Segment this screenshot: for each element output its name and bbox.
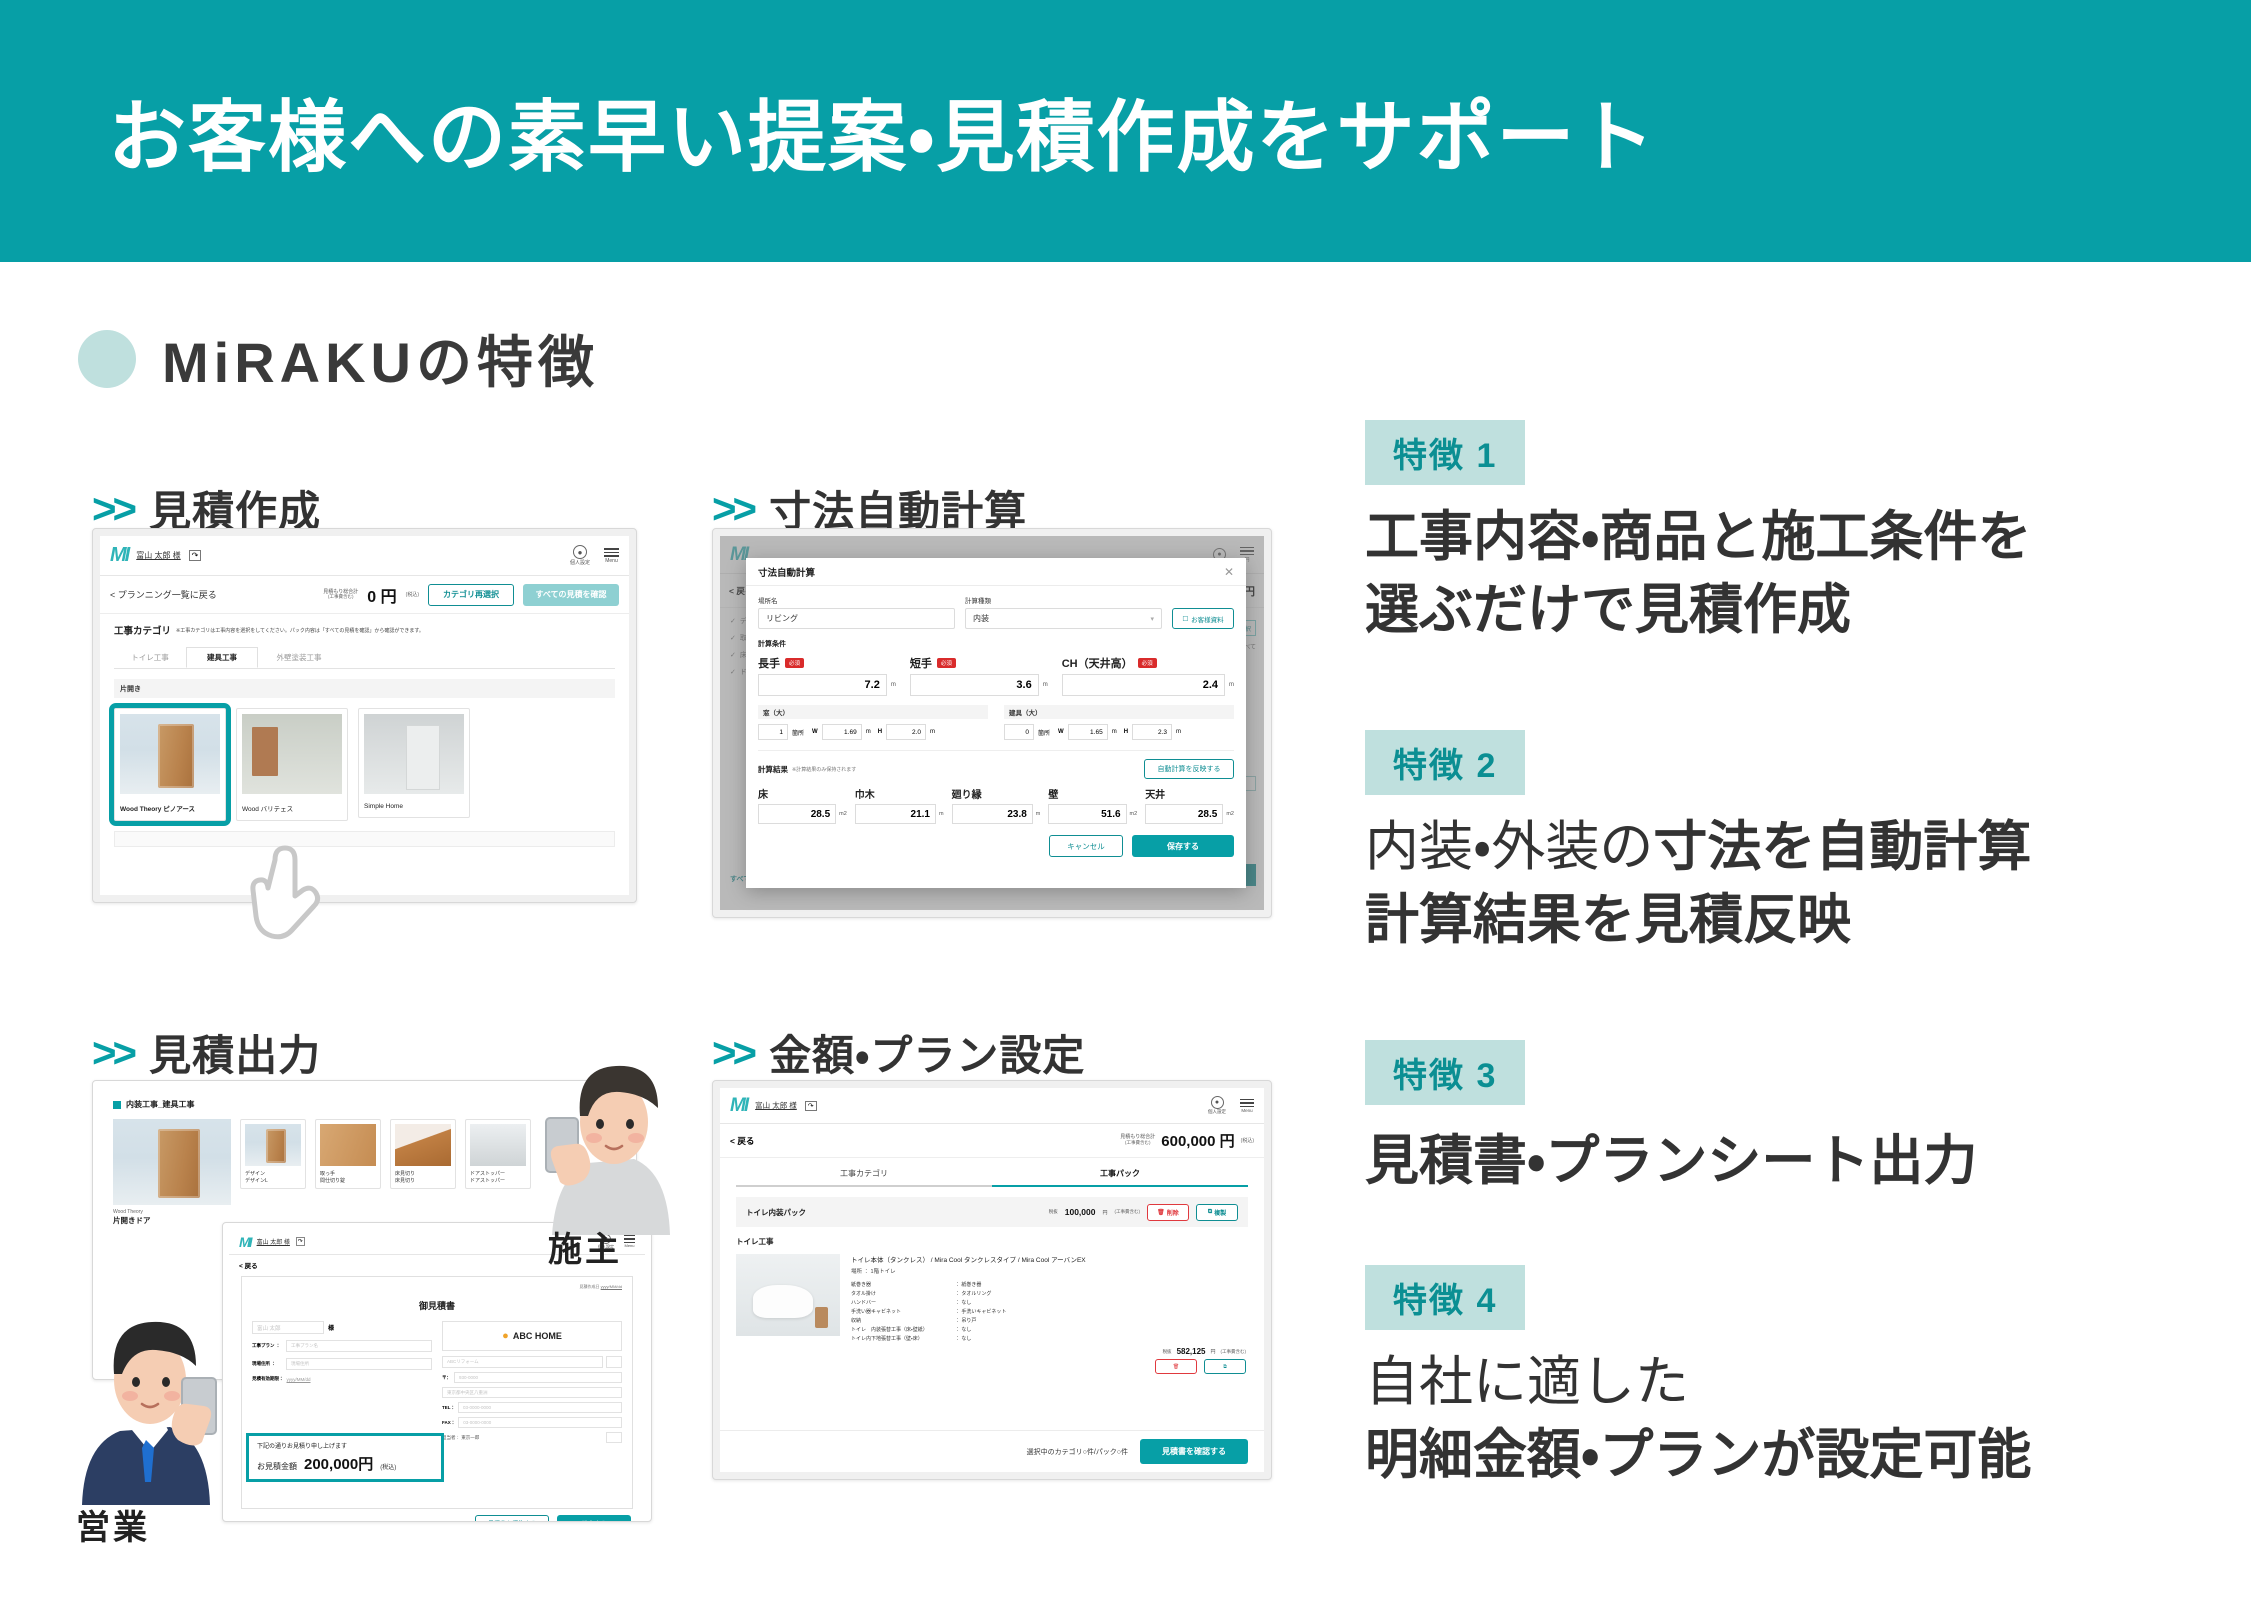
client-avatar: [540, 1040, 690, 1235]
place-label: 場所名: [758, 595, 955, 605]
save-button[interactable]: 保存する: [1132, 835, 1234, 857]
zip-label: 〒：: [442, 1375, 451, 1381]
app-header: MI 富山 太郎 様 ↷ ● 個人設定 Menu: [100, 536, 629, 576]
quote-document: 見積作成日 yyyy/MM/dd 御見積書 富山 太郎 様 工事プラン ： 工事…: [241, 1276, 633, 1509]
item-specs: 紙巻き器： 紙巻き器 タオル掛け： タオルリング ハンドバー： なし 手洗い器キ…: [851, 1281, 1248, 1342]
amount-label: お見積金額: [257, 1461, 297, 1472]
dim-input[interactable]: 7.2: [758, 674, 887, 696]
required-badge: 必須: [937, 658, 956, 668]
trash-icon: 🗑: [1157, 1209, 1165, 1216]
plan-input[interactable]: 工事プラン名: [286, 1340, 432, 1352]
option-thumbnail: [470, 1124, 526, 1166]
item-detail: トイレ本体（タンクレス） / Mira Cool タンクレスタイプ / Mira…: [720, 1247, 1264, 1342]
zip-input[interactable]: 930-0000: [454, 1372, 622, 1383]
result-name: 廻り縁: [952, 786, 1041, 801]
opening-height[interactable]: 2.0: [886, 724, 926, 740]
required-badge: 必須: [1138, 658, 1157, 668]
apply-auto-calc-button[interactable]: 自動計算を反映する: [1144, 759, 1234, 779]
results-section: 計算結果 ※計算結果のみ保持されます 自動計算を反映する 床 28.5 m2: [758, 750, 1234, 857]
quote-form-actions: 見積書を編集する 確定する: [229, 1515, 645, 1522]
copy-icon: ⧉: [1208, 1209, 1212, 1216]
total-sublabel: (工事費含む): [1120, 1141, 1155, 1146]
tab-toilet[interactable]: トイレ工事: [114, 647, 186, 668]
price-plan-screen: MI 富山 太郎 様 ↷ ● 個人設定 Menu < 戻る: [720, 1088, 1264, 1472]
dimension-inputs: 長手 必須 7.2 m 短手 必須: [758, 655, 1234, 696]
document-title: 御見積書: [252, 1299, 622, 1312]
company-name-input[interactable]: ABCリフォーム: [442, 1356, 603, 1368]
feature-1: 特徴 1 工事内容・商品と施工条件を 選ぶだけで見積作成: [1365, 420, 2031, 645]
calc-type-label: 計算種類: [965, 595, 1162, 605]
option-card: ドアストッパー ドアストッパー: [465, 1119, 531, 1189]
tel-input[interactable]: 03-0000-0000: [458, 1402, 622, 1413]
page-title: お客様への素早い提案・見積作成をサポート: [108, 75, 1657, 187]
miraku-logo-icon: MI: [730, 1095, 747, 1117]
feature-badge: 特徴 2: [1365, 730, 1525, 795]
total-tax-note: (税込): [1241, 1137, 1254, 1144]
product-thumbnail: [364, 714, 464, 794]
feature-badge: 特徴 3: [1365, 1040, 1525, 1105]
feature-text-line-2: 計算結果を見積反映: [1365, 886, 2031, 955]
modal-title: 寸法自動計算: [758, 565, 815, 579]
feature-text-line-1: 見積書・プランシート出力: [1365, 1127, 1977, 1196]
person-icon: ●: [573, 545, 587, 559]
amount-value: 200,000円: [304, 1453, 373, 1474]
person-icon: ●: [1211, 1096, 1224, 1109]
back-to-list-link[interactable]: < プランニング一覧に戻る: [110, 588, 217, 601]
quote-form-screen: MI 富山 太郎 様 ↷ ● 個人設定 Menu < 戻る: [229, 1229, 645, 1515]
conditions-label: 計算条件: [758, 639, 1234, 649]
feature-badge: 特徴 4: [1365, 1265, 1525, 1330]
label-salesperson: 営業: [76, 1500, 150, 1549]
result-name: 天井: [1145, 786, 1234, 801]
account-settings-button[interactable]: ● 個人設定: [1208, 1096, 1226, 1115]
copy-pack-button[interactable]: ⧉複製: [1196, 1204, 1238, 1221]
panel-quote-create: MI 富山 太郎 様 ↷ ● 個人設定 Menu < プラン: [92, 528, 637, 903]
fix-quote-button[interactable]: 確定する: [557, 1515, 631, 1522]
flame-icon: ●: [502, 1330, 509, 1342]
required-badge: 必須: [785, 658, 804, 668]
user-name: 富山 太郎 様: [755, 1100, 797, 1111]
product-thumbnail: [242, 714, 342, 794]
total-sublabel: (工事費含む): [323, 595, 358, 600]
caption-price-plan: >> 金額・プラン設定: [712, 1022, 1085, 1083]
opening-width[interactable]: 1.65: [1068, 724, 1108, 740]
recategory-button[interactable]: カテゴリ再選択: [428, 584, 514, 606]
option-thumbnail: [395, 1124, 451, 1166]
miraku-logo-icon: MI: [239, 1234, 251, 1250]
item-title: トイレ本体（タンクレス） / Mira Cool タンクレスタイプ / Mira…: [851, 1254, 1248, 1264]
price-plan-footer: 選択中のカテゴリ○件/パック○件 見積書を確認する: [720, 1430, 1264, 1472]
feature-text-line-1: 工事内容・商品と施工条件を: [1365, 503, 2031, 572]
product-name: Wood バリテェス: [237, 799, 347, 820]
customer-doc-button[interactable]: ☐ お客様資料: [1172, 608, 1234, 629]
feature-badge: 特徴 1: [1365, 420, 1525, 485]
copy-item-button[interactable]: ⧉: [1204, 1359, 1246, 1374]
opening-count[interactable]: 1: [758, 724, 788, 740]
amount-tax: (税込): [380, 1462, 396, 1471]
main-product-image: [113, 1119, 231, 1205]
modal-actions: キャンセル 保存する: [758, 835, 1234, 857]
logout-icon[interactable]: ↷: [296, 1237, 305, 1246]
result-value: 23.8: [952, 804, 1033, 824]
item-subtotal: 税抜 582,125 円 (工事費含む): [720, 1342, 1264, 1356]
category-title: 工事カテゴリ: [114, 623, 171, 637]
dim-unit: m: [891, 682, 896, 688]
toilet-product-image: [736, 1254, 840, 1336]
address-input[interactable]: 現場住所: [286, 1358, 432, 1370]
label-client: 施主: [548, 1222, 622, 1271]
account-settings-button[interactable]: ● 個人設定: [570, 545, 590, 566]
auto-dimension-screen: MI ● 円 < 戻る 円 ✓デ ✓取 ✓床: [720, 536, 1264, 910]
result-label: 計算結果: [758, 764, 788, 775]
user-name: 富山 太郎 様: [257, 1237, 290, 1246]
dim-label: 長手: [758, 655, 780, 671]
hamburger-icon: [1240, 1098, 1254, 1108]
user-name: 富山 太郎 様: [136, 550, 180, 561]
miraku-logo-icon: MI: [110, 544, 128, 567]
product-name: 片開きドア: [113, 1215, 231, 1226]
person-seal-box[interactable]: [606, 1432, 622, 1443]
sheet-title: 内装工事_建具工事: [126, 1099, 194, 1110]
back-link[interactable]: < 戻る: [730, 1135, 754, 1147]
check-quote-button[interactable]: 見積書を確認する: [1140, 1439, 1248, 1464]
tab-category[interactable]: 工事カテゴリ: [736, 1168, 992, 1187]
feature-text-line-1: 内装・外装の寸法を自動計算: [1365, 813, 2031, 882]
chevron-down-icon: ▾: [1150, 615, 1154, 623]
feature-2: 特徴 2 内装・外装の寸法を自動計算 計算結果を見積反映: [1365, 730, 2031, 955]
option-thumbnail: [320, 1124, 376, 1166]
hamburger-icon: [624, 1235, 635, 1243]
name-suffix: 様: [328, 1323, 334, 1332]
feature-text-line-2: 選ぶだけで見積作成: [1365, 576, 2031, 645]
product-thumbnail: [120, 714, 220, 794]
fax-input[interactable]: 03-0000-0000: [458, 1417, 622, 1428]
chevron-right-icon: >>: [92, 488, 133, 530]
valid-label: 見積有効期限：: [252, 1376, 284, 1382]
group-label: 片開き: [114, 679, 615, 698]
opening-count[interactable]: 0: [1004, 724, 1034, 740]
cancel-button[interactable]: キャンセル: [1049, 835, 1123, 857]
chevron-right-icon: >>: [712, 488, 753, 530]
calc-type-select[interactable]: 内装 ▾: [965, 608, 1162, 629]
company-seal-box[interactable]: [606, 1356, 622, 1368]
menu-button[interactable]: Menu: [624, 1235, 635, 1248]
result-note: ※計算結果のみ保持されます: [792, 766, 856, 773]
price-plan-subheader: < 戻る 見積もり総合計 (工事費含む) 600,000 円 (税込): [720, 1124, 1264, 1158]
total-amount: 0 円: [367, 583, 396, 607]
product-card[interactable]: Wood バリテェス: [236, 708, 348, 821]
product-name: Simple Home: [359, 799, 469, 817]
company-logo: ● ABC HOME: [442, 1321, 622, 1351]
plan-tabs: 工事カテゴリ 工事パック: [720, 1158, 1264, 1187]
quote-amount-box: 下記の通りお見積り申し上げます お見積金額 200,000円 (税込): [246, 1433, 444, 1482]
quote-create-screen: MI 富山 太郎 様 ↷ ● 個人設定 Menu < プラン: [100, 536, 629, 895]
auto-dimension-modal: 寸法自動計算 ✕ 場所名 リビング 計算種類 内装: [746, 558, 1246, 888]
option-card: 取っ手 間仕切り錠: [315, 1119, 381, 1189]
pack-header: トイレ内装パック 税抜 100,000 円 (工事費含む) 🗑削除 ⧉複製: [736, 1197, 1248, 1227]
quote-subheader: < プランニング一覧に戻る 見積もり総合計 (工事費含む) 0 円 (税込) カ…: [100, 576, 629, 614]
tab-exterior[interactable]: 外壁塗装工事: [258, 647, 340, 668]
app-header: MI 富山 太郎 様 ↷ ● 個人設定 Menu: [720, 1088, 1264, 1124]
chevron-right-icon: >>: [92, 1032, 133, 1074]
result-values: 床 28.5 m2 巾木 21.1 m: [758, 786, 1234, 824]
dim-input[interactable]: 3.6: [910, 674, 1039, 696]
feature-text-line-2: 明細金額・プランが設定可能: [1365, 1421, 2031, 1490]
pack-name: トイレ内装パック: [746, 1207, 806, 1218]
modal-body: 場所名 リビング 計算種類 内装 ▾ ☐ お客様資料: [746, 586, 1246, 857]
salesperson-avatar: [62, 1290, 237, 1505]
slide-root: お客様への素早い提案・見積作成をサポート MiRAKUの特徴 >> 見積作成 M…: [0, 0, 2251, 1605]
dim-input[interactable]: 2.4: [1062, 674, 1225, 696]
menu-button[interactable]: Menu: [604, 547, 619, 564]
logout-icon[interactable]: ↷: [189, 550, 202, 561]
tab-pack[interactable]: 工事パック: [992, 1168, 1248, 1187]
bullet-square-icon: [113, 1101, 121, 1109]
valid-value: yyyy/MM/dd: [287, 1377, 311, 1382]
place-input[interactable]: リビング: [758, 608, 955, 629]
opening-title: 窓（大）: [758, 705, 988, 719]
result-value: 21.1: [855, 804, 936, 824]
opening-inputs: 窓（大） 1 箇所 W 1.69 m H 2.0 m: [758, 705, 1234, 740]
category-tabs: トイレ工事 建具工事 外壁塗装工事: [114, 647, 615, 669]
dim-label: CH（天井高）: [1062, 655, 1133, 671]
result-name: 巾木: [855, 786, 944, 801]
dim-unit: m: [1043, 682, 1048, 688]
section-title: MiRAKUの特徴: [162, 318, 599, 399]
caption-quote-output: >> 見積出力: [92, 1022, 321, 1083]
result-name: 壁: [1048, 786, 1137, 801]
edit-quote-button[interactable]: 見積書を編集する: [475, 1515, 549, 1522]
confirm-all-quotes-button[interactable]: すべての見積を確認: [523, 584, 619, 606]
opening-height[interactable]: 2.3: [1132, 724, 1172, 740]
logout-icon[interactable]: ↷: [805, 1101, 817, 1111]
feature-3: 特徴 3 見積書・プランシート出力: [1365, 1040, 1977, 1196]
result-value: 51.6: [1048, 804, 1126, 824]
opening-title: 建具（大）: [1004, 705, 1234, 719]
person-in-charge: 担当者： 東京一郎: [442, 1435, 479, 1441]
created-date: 見積作成日 yyyy/MM/dd: [580, 1284, 622, 1290]
delete-item-button[interactable]: 🗑: [1155, 1359, 1197, 1374]
total-tax-note: (税込): [406, 591, 419, 598]
result-value: 28.5: [1145, 804, 1223, 824]
plan-label: 工事プラン ：: [252, 1343, 282, 1349]
item-actions: 🗑 ⧉: [720, 1356, 1264, 1374]
customer-name-input[interactable]: 富山 太郎: [252, 1321, 324, 1334]
address2-input[interactable]: 東京都中央区八重洲: [442, 1387, 622, 1398]
tab-joinery[interactable]: 建具工事: [186, 647, 258, 668]
dim-label: 短手: [910, 655, 932, 671]
result-value: 28.5: [758, 804, 836, 824]
menu-button[interactable]: Menu: [1240, 1098, 1254, 1113]
delete-pack-button[interactable]: 🗑削除: [1147, 1204, 1189, 1221]
amount-note: 下記の通りお見積り申し上げます: [257, 1441, 433, 1450]
panel-auto-dimension: MI ● 円 < 戻る 円 ✓デ ✓取 ✓床: [712, 528, 1272, 918]
fax-label: FAX：: [442, 1420, 455, 1426]
external-link-icon: ☐: [1182, 615, 1188, 623]
hand-pointer-icon: [245, 838, 335, 958]
address-label: 現場住所 ：: [252, 1361, 282, 1367]
bullet-dot-icon: [78, 330, 136, 388]
feature-text-line-1: 自社に適した: [1365, 1348, 2031, 1417]
product-name: Wood Theory ピノアース: [115, 799, 225, 820]
category-note: ※工事カテゴリは工事内容を選択をしてください。パック内容は「すべての見積を確認」…: [176, 627, 424, 634]
option-card: 床見切り 床見切り: [390, 1119, 456, 1189]
hero-banner: お客様への素早い提案・見積作成をサポート: [0, 0, 2251, 262]
quote-create-body: 工事カテゴリ ※工事カテゴリは工事内容を選択をしてください。パック内容は「すべて…: [100, 614, 629, 856]
feature-4: 特徴 4 自社に適した 明細金額・プランが設定可能: [1365, 1265, 2031, 1490]
total-amount: 600,000 円: [1161, 1130, 1234, 1151]
selection-count: 選択中のカテゴリ○件/パック○件: [1027, 1447, 1128, 1457]
close-icon[interactable]: ✕: [1224, 565, 1234, 579]
section-title: トイレ工事: [720, 1227, 1264, 1247]
option-thumbnail: [245, 1124, 301, 1166]
list-divider: [114, 831, 615, 847]
result-name: 床: [758, 786, 847, 801]
chevron-right-icon: >>: [712, 1032, 753, 1074]
product-card-list: Wood Theory ピノアース Wood バリテェス Simple Home: [114, 708, 615, 821]
item-place: 場所 ： 1階トイレ: [851, 1267, 1248, 1275]
option-card: デザイン デザインL: [240, 1119, 306, 1189]
pack-price: 100,000: [1065, 1207, 1096, 1217]
dim-unit: m: [1229, 682, 1234, 688]
hamburger-icon: [604, 547, 619, 558]
panel-price-plan: MI 富山 太郎 様 ↷ ● 個人設定 Menu < 戻る: [712, 1080, 1272, 1480]
modal-header: 寸法自動計算 ✕: [746, 558, 1246, 586]
tel-label: TEL：: [442, 1405, 455, 1411]
product-card[interactable]: Simple Home: [358, 708, 470, 818]
section-heading: MiRAKUの特徴: [78, 318, 599, 399]
opening-width[interactable]: 1.69: [822, 724, 862, 740]
product-card-selected[interactable]: Wood Theory ピノアース: [114, 708, 226, 821]
